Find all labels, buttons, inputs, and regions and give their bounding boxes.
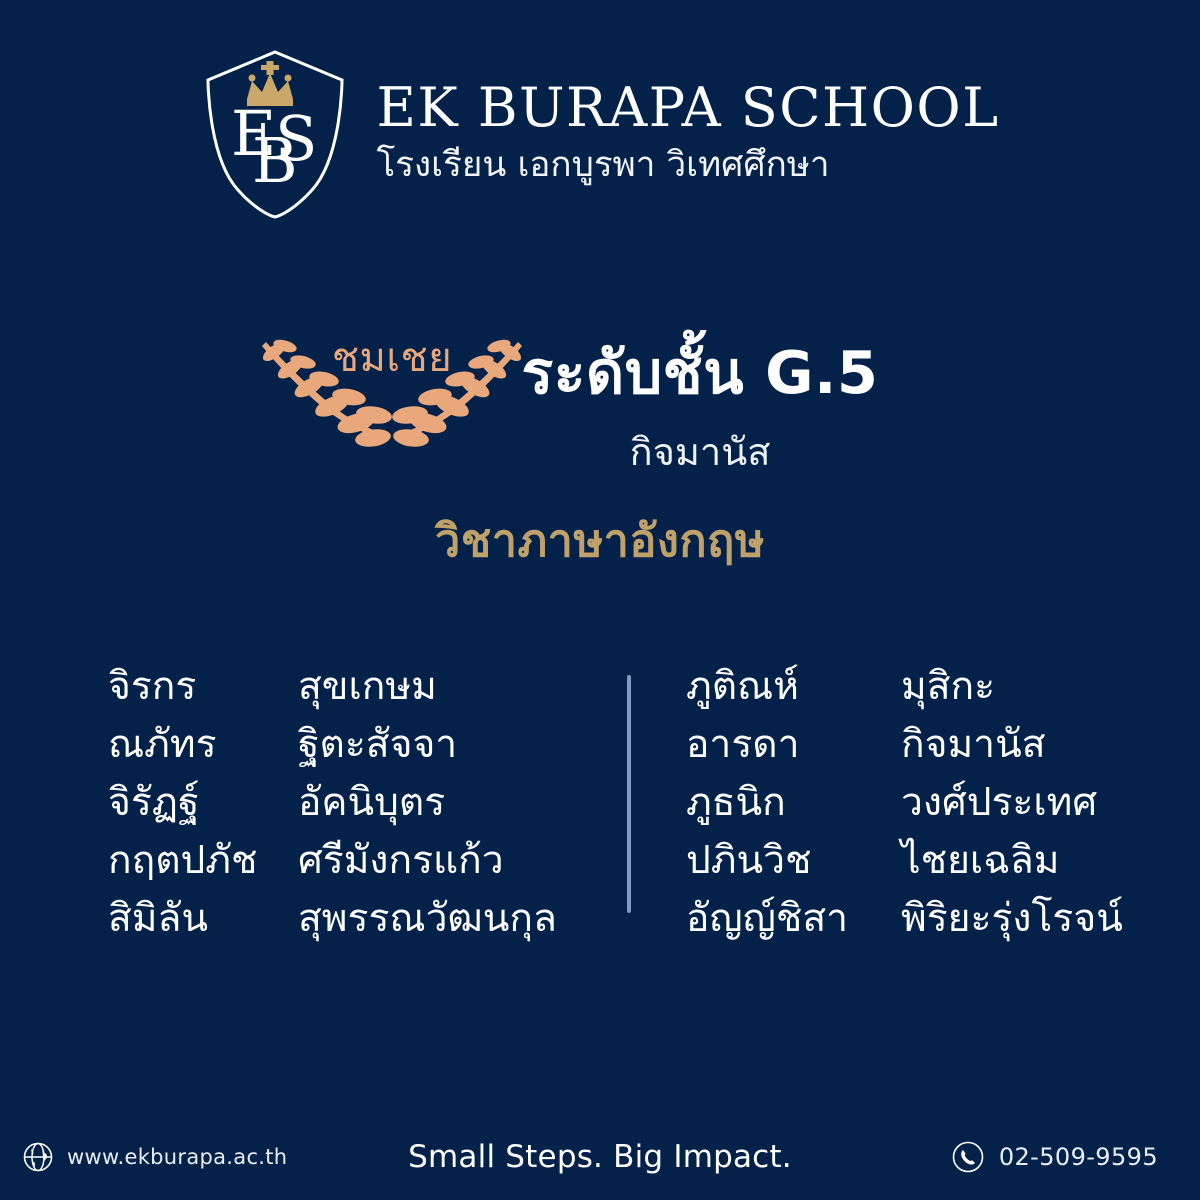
phone-icon: [951, 1140, 985, 1174]
website-url: www.ekburapa.ac.th: [67, 1145, 287, 1169]
footer: Small Steps. Big Impact. www.ekburapa.ac…: [0, 1114, 1200, 1200]
student-last-name: ฐิตะสัจจา: [298, 713, 457, 775]
student-last-name: วงศ์ประเทศ: [901, 771, 1097, 833]
list-item: ภูติณห์ มุสิกะ: [686, 655, 1156, 713]
student-last-name: สุขเกษม: [298, 655, 437, 717]
phone-contact[interactable]: 02-509-9595: [951, 1140, 1158, 1174]
student-last-name: กิจมานัส: [901, 713, 1046, 775]
subject-title: วิชาภาษาอังกฤษ: [0, 512, 1200, 571]
grade-title: ระดับชั้น G.5: [470, 336, 930, 410]
list-item: สิมิลัน สุพรรณวัฒนกุล: [108, 887, 608, 945]
student-first-name: ภูติณห์: [686, 655, 901, 717]
list-item: อารดา กิจมานัส: [686, 713, 1156, 771]
student-first-name: กฤตปภัช: [108, 829, 298, 891]
student-last-name: ไชยเฉลิม: [901, 829, 1059, 891]
student-last-name: อัคนิบุตร: [298, 771, 445, 833]
student-last-name: สุพรรณวัฒนกุล: [298, 887, 557, 949]
school-name-th: โรงเรียน เอกบูรพา วิเทศศึกษา: [376, 139, 829, 192]
award-block: ชมเชย ระดับชั้น G.5 กิจมานัส: [0, 318, 1200, 518]
header: E B S EK BURAPA SCHOOL โรงเรียน เอกบูรพา…: [0, 44, 1200, 224]
svg-text:S: S: [275, 102, 317, 175]
student-first-name: ปภินวิช: [686, 829, 901, 891]
student-list-left: จิรกร สุขเกษม ณภัทร ฐิตะสัจจา จิรัฏฐ์ อั…: [108, 655, 608, 945]
school-name-en: EK BURAPA SCHOOL: [376, 80, 999, 137]
student-first-name: ภูธนิก: [686, 771, 901, 833]
student-first-name: สิมิลัน: [108, 887, 298, 949]
student-last-name: ศรีมังกรแก้ว: [298, 829, 504, 891]
student-first-name: อัญญ์ชิสา: [686, 887, 901, 949]
list-item: จิรกร สุขเกษม: [108, 655, 608, 713]
student-name-lists: จิรกร สุขเกษม ณภัทร ฐิตะสัจจา จิรัฏฐ์ อั…: [0, 655, 1200, 975]
student-first-name: อารดา: [686, 713, 901, 775]
student-first-name: จิรกร: [108, 655, 298, 717]
list-item: ภูธนิก วงศ์ประเทศ: [686, 771, 1156, 829]
student-first-name: ณภัทร: [108, 713, 298, 775]
globe-icon: [22, 1141, 54, 1173]
brand-text-block: EK BURAPA SCHOOL โรงเรียน เอกบูรพา วิเทศ…: [376, 80, 999, 191]
website-link[interactable]: www.ekburapa.ac.th: [22, 1141, 287, 1173]
list-item: อัญญ์ชิสา พิริยะรุ่งโรจน์: [686, 887, 1156, 945]
student-list-right: ภูติณห์ มุสิกะ อารดา กิจมานัส ภูธนิก วงศ…: [686, 655, 1156, 945]
list-item: ณภัทร ฐิตะสัจจา: [108, 713, 608, 771]
student-last-name: มุสิกะ: [901, 655, 995, 717]
school-logo: E B S: [200, 47, 350, 222]
student-first-name: จิรัฏฐ์: [108, 771, 298, 833]
student-last-name: พิริยะรุ่งโรจน์: [901, 887, 1123, 949]
phone-number: 02-509-9595: [999, 1143, 1158, 1171]
list-item: กฤตปภัช ศรีมังกรแก้ว: [108, 829, 608, 887]
shield-crown-ebs-logo-icon: E B S: [200, 47, 350, 222]
grade-subtitle: กิจมานัส: [470, 428, 930, 477]
list-item: จิรัฏฐ์ อัคนิบุตร: [108, 771, 608, 829]
list-item: ปภินวิช ไชยเฉลิม: [686, 829, 1156, 887]
column-divider: [627, 675, 631, 913]
